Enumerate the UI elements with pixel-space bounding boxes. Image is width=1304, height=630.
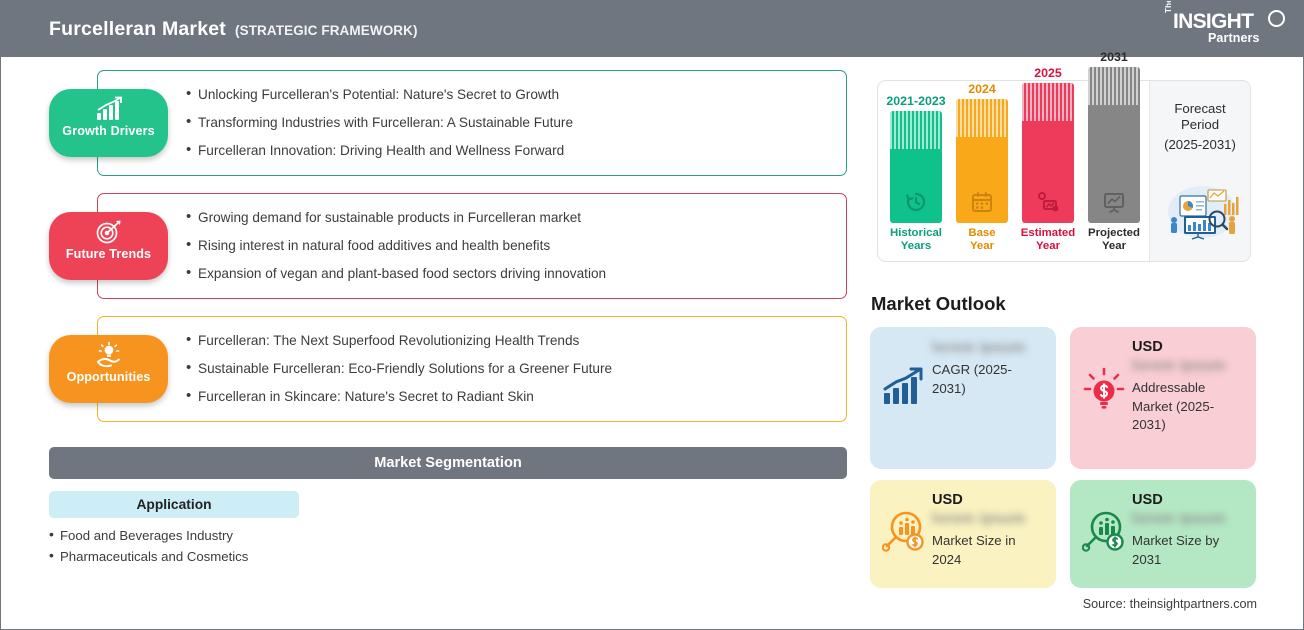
card-body: lorem ipsum CAGR (2025-2031)	[928, 339, 1044, 398]
timeline-year-label: 2031	[1100, 50, 1128, 64]
section-future-trends: Growing demand for sustainable products …	[1, 193, 863, 299]
future-trends-bullet-list: Growing demand for sustainable products …	[186, 204, 846, 288]
list-item: Furcelleran Innovation: Driving Health a…	[186, 137, 846, 165]
future-trends-card: Growing demand for sustainable products …	[97, 193, 847, 299]
logo-partners-text: Partners	[1208, 32, 1260, 45]
calendar-icon	[970, 190, 994, 214]
market-outlook-title: Market Outlook	[871, 293, 1006, 315]
card-currency: USD	[1132, 339, 1244, 355]
growth-drivers-bullet-list: Unlocking Furcelleran's Potential: Natur…	[186, 81, 846, 165]
timeline-column-historical[interactable]: 2021-2023 Historical Years	[890, 94, 942, 253]
bar-stripes-decoration	[956, 99, 1008, 137]
dollar-bulb-icon	[1082, 367, 1126, 413]
growth-drivers-card: Unlocking Furcelleran's Potential: Natur…	[97, 70, 847, 176]
card-value-blurred: lorem ipsum	[932, 339, 1044, 358]
card-body: USD lorem ipsum Addressable Market (2025…	[1128, 339, 1244, 435]
segmentation-chip-application[interactable]: Application	[49, 491, 299, 518]
forecast-period-title: Forecast Period	[1174, 101, 1225, 133]
card-body: USD lorem ipsum Market Size in 2024	[928, 492, 1044, 569]
timeline-year-label: 2024	[968, 82, 996, 96]
list-item: Food and Beverages Industry	[49, 525, 248, 546]
settings-chart-icon	[1036, 190, 1060, 214]
page-subtitle: (STRATEGIC FRAMEWORK)	[235, 23, 418, 38]
lightbulb-hand-icon	[94, 342, 124, 368]
card-value-blurred: lorem ipsum	[1132, 357, 1244, 376]
list-item: Furcelleran in Skincare: Nature's Secret…	[186, 383, 846, 411]
card-icon-wrap	[882, 367, 928, 412]
segmentation-chip-label: Application	[136, 497, 211, 512]
section-growth-drivers: Unlocking Furcelleran's Potential: Natur…	[1, 70, 863, 176]
timeline-bar-name: Base Year	[968, 227, 995, 253]
timeline-bar-name: Estimated Year	[1021, 227, 1075, 253]
infographic-page: Furcelleran Market (STRATEGIC FRAMEWORK)…	[0, 0, 1304, 630]
header-title-group: Furcelleran Market (STRATEGIC FRAMEWORK)	[49, 18, 418, 41]
page-title: Furcelleran Market	[49, 18, 226, 41]
badge-label: Future Trends	[66, 247, 151, 261]
badge-label: Opportunities	[67, 370, 151, 384]
timeline-bar-name: Projected Year	[1088, 227, 1140, 253]
card-icon-wrap	[1082, 510, 1128, 559]
card-icon-wrap	[882, 510, 928, 559]
target-dart-icon	[94, 219, 124, 245]
future-trends-badge[interactable]: Future Trends	[49, 212, 168, 280]
opportunities-badge[interactable]: Opportunities	[49, 335, 168, 403]
list-item: Expansion of vegan and plant-based food …	[186, 260, 846, 288]
card-value-blurred: lorem ipsum	[1132, 510, 1244, 529]
magnify-chart-dollar-icon	[1082, 510, 1126, 554]
growth-bar-chart-icon	[882, 367, 926, 407]
timeline-year-label: 2021-2023	[886, 94, 945, 108]
list-item: Rising interest in natural food additive…	[186, 232, 846, 260]
list-item: Growing demand for sustainable products …	[186, 204, 846, 232]
opportunities-card: Furcelleran: The Next Superfood Revoluti…	[97, 316, 847, 422]
card-currency: USD	[932, 492, 1044, 508]
outlook-card-market-size-2024[interactable]: USD lorem ipsum Market Size in 2024	[870, 480, 1056, 588]
market-segmentation-title: Market Segmentation	[374, 455, 522, 471]
history-clock-icon	[904, 190, 928, 214]
section-opportunities: Furcelleran: The Next Superfood Revoluti…	[1, 316, 863, 422]
logo-insight-text: INSIGHT	[1173, 11, 1253, 32]
outlook-card-market-size-2031[interactable]: USD lorem ipsum Market Size by 2031	[1070, 480, 1256, 588]
insight-partners-logo[interactable]: The INSIGHT Partners	[1163, 10, 1285, 50]
card-caption: CAGR (2025-2031)	[932, 361, 1044, 398]
analytics-dashboard-icon	[1154, 178, 1246, 240]
card-icon-wrap	[1082, 367, 1128, 418]
card-caption: Market Size in 2024	[932, 532, 1044, 569]
card-value-blurred: lorem ipsum	[932, 510, 1044, 529]
timeline-column-estimated[interactable]: 2025 Estimated Year	[1022, 66, 1074, 253]
list-item: Transforming Industries with Furcelleran…	[186, 109, 846, 137]
timeline-column-base[interactable]: 2024 Base Y	[956, 82, 1008, 253]
card-caption: Addressable Market (2025-2031)	[1132, 379, 1244, 435]
bar-stripes-decoration	[1022, 83, 1074, 121]
forecast-timeline-panel: 2021-2023 Historical Years	[877, 80, 1251, 262]
forecast-period-panel: Forecast Period (2025-2031)	[1149, 81, 1250, 261]
list-item: Pharmaceuticals and Cosmetics	[49, 546, 248, 567]
page-header: Furcelleran Market (STRATEGIC FRAMEWORK)…	[1, 1, 1303, 57]
list-item: Unlocking Furcelleran's Potential: Natur…	[186, 81, 846, 109]
timeline-bar	[1088, 67, 1140, 223]
timeline-bar	[890, 111, 942, 223]
source-attribution: Source: theinsightpartners.com	[1083, 597, 1257, 611]
badge-label: Growth Drivers	[62, 124, 154, 138]
list-item: Sustainable Furcelleran: Eco-Friendly So…	[186, 355, 846, 383]
timeline-bar-name: Historical Years	[890, 227, 942, 253]
timeline-bar	[956, 99, 1008, 223]
growth-drivers-badge[interactable]: Growth Drivers	[49, 89, 168, 157]
outlook-card-addressable-market[interactable]: USD lorem ipsum Addressable Market (2025…	[1070, 327, 1256, 469]
logo-the-text: The	[1165, 0, 1173, 13]
timeline-column-projected[interactable]: 2031 Projected Year	[1088, 50, 1140, 253]
left-content-column: Unlocking Furcelleran's Potential: Natur…	[1, 57, 863, 422]
bar-chart-up-icon	[94, 96, 124, 122]
segmentation-item-list: Food and Beverages Industry Pharmaceutic…	[49, 525, 248, 567]
presentation-icon	[1102, 190, 1126, 214]
timeline-bar	[1022, 83, 1074, 223]
market-segmentation-bar: Market Segmentation	[49, 447, 847, 479]
bar-stripes-decoration	[1088, 67, 1140, 105]
list-item: Furcelleran: The Next Superfood Revoluti…	[186, 327, 846, 355]
logo-ring-icon	[1268, 10, 1285, 27]
forecast-period-range: (2025-2031)	[1164, 137, 1236, 152]
card-currency: USD	[1132, 492, 1244, 508]
timeline-year-label: 2025	[1034, 66, 1062, 80]
magnify-chart-dollar-icon	[882, 510, 926, 554]
opportunities-bullet-list: Furcelleran: The Next Superfood Revoluti…	[186, 327, 846, 411]
bar-stripes-decoration	[890, 111, 942, 149]
card-caption: Market Size by 2031	[1132, 532, 1244, 569]
card-body: USD lorem ipsum Market Size by 2031	[1128, 492, 1244, 569]
timeline-bars-group: 2021-2023 Historical Years	[878, 81, 1149, 261]
outlook-card-cagr[interactable]: lorem ipsum CAGR (2025-2031)	[870, 327, 1056, 469]
